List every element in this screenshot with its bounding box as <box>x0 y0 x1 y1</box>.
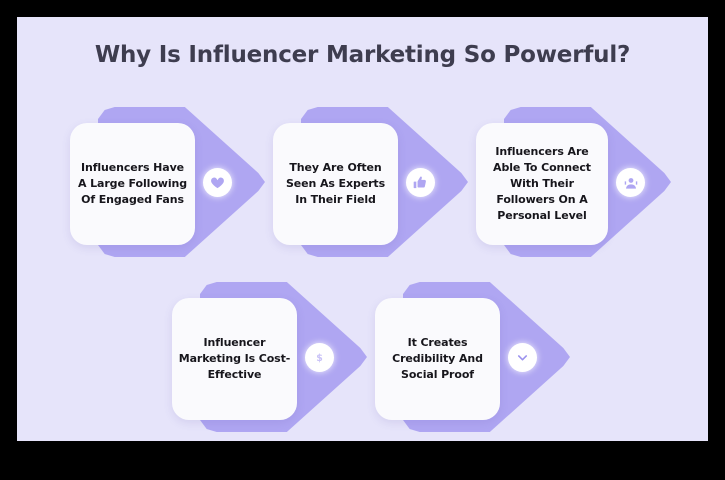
item-card[interactable]: They Are Often Seen As Experts In Their … <box>273 123 398 245</box>
item-card[interactable]: Influencers Are Able To Connect With The… <box>476 123 608 245</box>
icon-badge[interactable]: $ <box>305 343 334 372</box>
item-card-text: They Are Often Seen As Experts In Their … <box>279 160 392 208</box>
infographic-item-1[interactable]: Influencers Have A Large Following Of En… <box>70 107 265 257</box>
item-card-text: Influencers Have A Large Following Of En… <box>76 160 189 208</box>
outer-frame: Why Is Influencer Marketing So Powerful?… <box>0 0 725 480</box>
infographic-item-5[interactable]: It Creates Credibility And Social Proof <box>375 282 570 432</box>
infographic-canvas: Why Is Influencer Marketing So Powerful?… <box>17 17 708 441</box>
item-card[interactable]: Influencer Marketing Is Cost-Effective <box>172 298 297 420</box>
item-card[interactable]: It Creates Credibility And Social Proof <box>375 298 500 420</box>
icon-badge[interactable] <box>406 168 435 197</box>
infographic-item-4[interactable]: Influencer Marketing Is Cost-Effective $ <box>172 282 367 432</box>
icon-badge[interactable] <box>616 168 645 197</box>
icon-badge[interactable] <box>508 343 537 372</box>
item-card-text: It Creates Credibility And Social Proof <box>381 335 494 383</box>
infographic-item-3[interactable]: Influencers Are Able To Connect With The… <box>476 107 671 257</box>
thumbs-up-icon <box>413 175 428 190</box>
infographic-item-2[interactable]: They Are Often Seen As Experts In Their … <box>273 107 468 257</box>
user-person-icon <box>623 175 639 191</box>
page-title: Why Is Influencer Marketing So Powerful? <box>17 42 708 68</box>
item-card-text: Influencers Are Able To Connect With The… <box>482 144 602 224</box>
item-card[interactable]: Influencers Have A Large Following Of En… <box>70 123 195 245</box>
chevron-down-icon <box>515 350 530 365</box>
item-card-text: Influencer Marketing Is Cost-Effective <box>178 335 291 383</box>
heart-icon <box>210 175 225 190</box>
icon-badge[interactable] <box>203 168 232 197</box>
dollar-sign-icon: $ <box>312 350 327 365</box>
svg-text:$: $ <box>316 353 323 364</box>
